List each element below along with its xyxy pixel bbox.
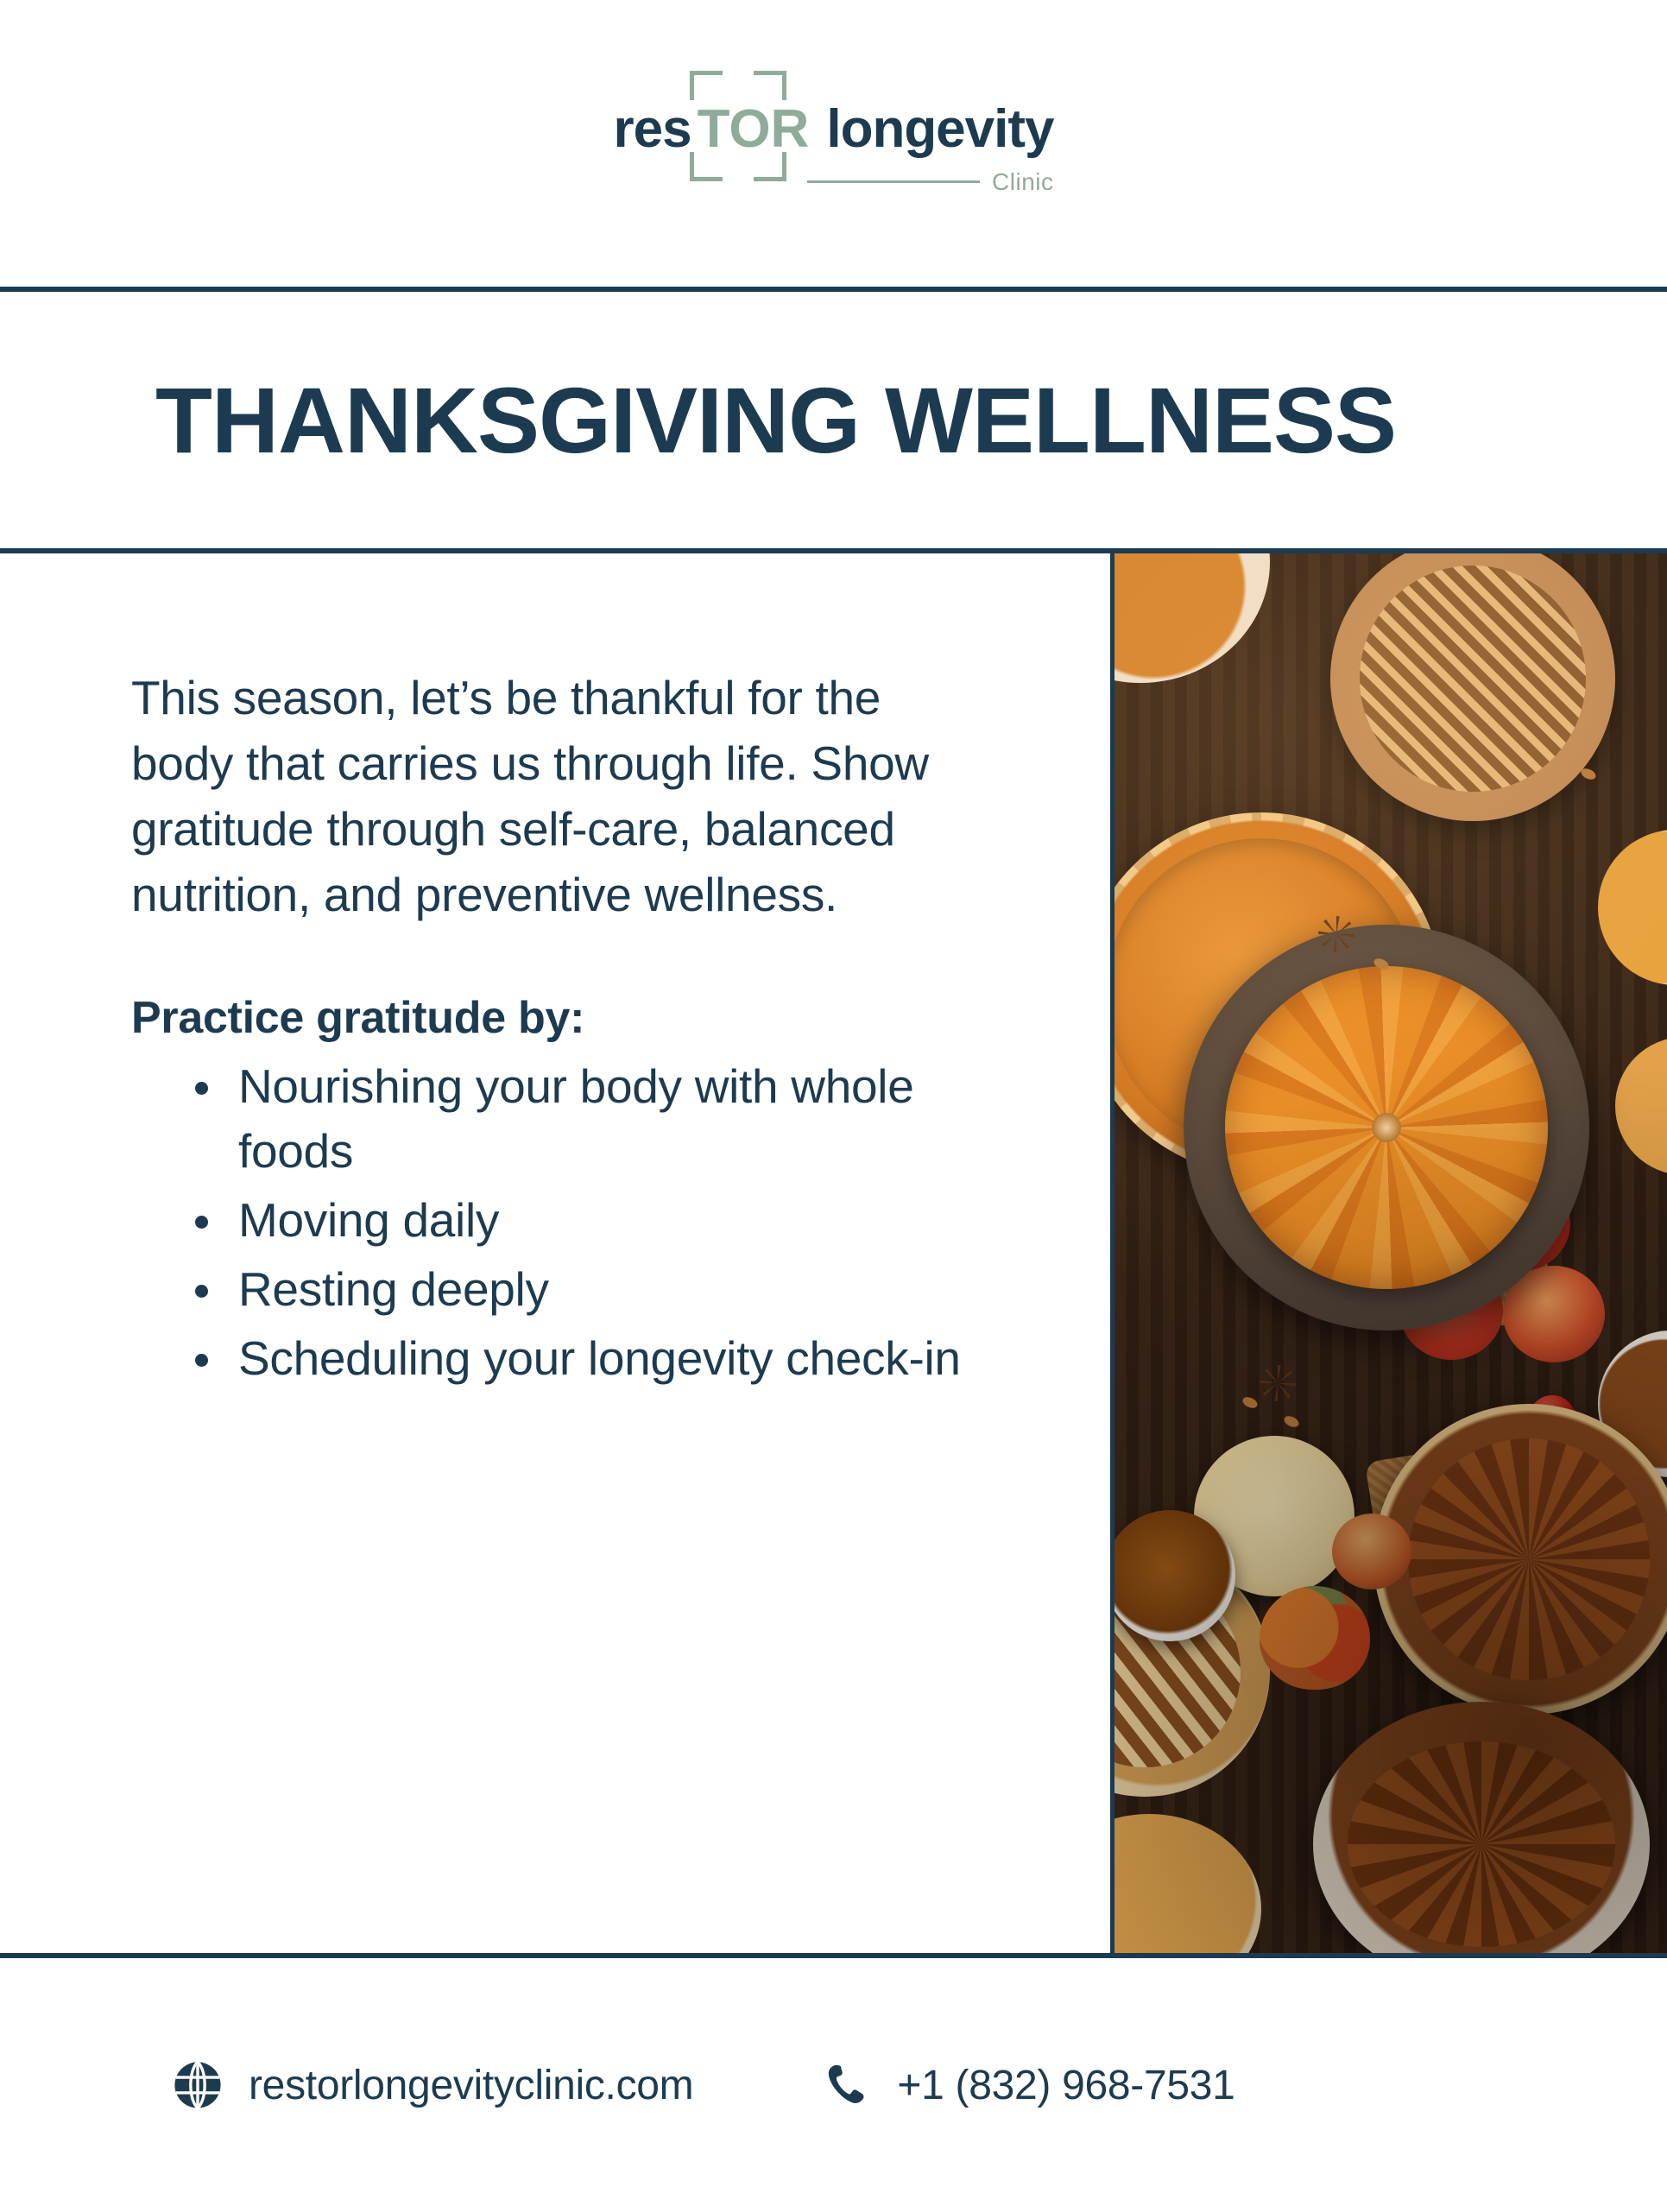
logo-tor-text: TOR bbox=[698, 99, 810, 159]
phone-text: +1 (832) 968-7531 bbox=[897, 2062, 1234, 2109]
photo-pumpkin-loaf bbox=[1225, 966, 1548, 1289]
page-title: THANKSGIVING WELLNESS bbox=[155, 374, 1396, 467]
logo-wordmark: res TOR longevity bbox=[613, 103, 1053, 156]
website-contact[interactable]: restorlongevityclinic.com bbox=[173, 2060, 693, 2110]
photo-bowl-right-edge bbox=[1615, 1037, 1667, 1175]
photo-seed bbox=[1283, 1414, 1301, 1430]
list-heading: Practice gratitude by: bbox=[131, 992, 995, 1044]
photo-star-anise bbox=[1260, 1365, 1296, 1401]
photo-apple bbox=[1332, 1514, 1411, 1589]
brand-logo[interactable]: res TOR longevity Clinic bbox=[613, 103, 1053, 156]
photo-canvas bbox=[1114, 553, 1667, 1953]
photo-pie-bottom-left bbox=[1114, 1814, 1261, 1953]
logo-res-text: res bbox=[613, 103, 691, 156]
photo-seed bbox=[1580, 767, 1598, 782]
thanksgiving-dessert-photo bbox=[1110, 553, 1667, 1953]
logo-clinic-row: Clinic bbox=[807, 170, 1053, 194]
photo-seed bbox=[1241, 1395, 1260, 1411]
photo-star-anise bbox=[1318, 916, 1354, 952]
logo-tor-block: TOR bbox=[692, 103, 815, 156]
list-item: Nourishing your body with whole foods bbox=[190, 1054, 995, 1185]
photo-lattice-pie bbox=[1330, 553, 1615, 821]
list-item: Scheduling your longevity check-in bbox=[190, 1326, 995, 1392]
phone-icon bbox=[823, 2061, 871, 2109]
footer-contacts: restorlongevityclinic.com +1 (832) 968-7… bbox=[173, 2060, 1235, 2110]
photo-pie-right-edge bbox=[1598, 830, 1667, 985]
list-item: Resting deeply bbox=[190, 1257, 995, 1323]
header: res TOR longevity Clinic bbox=[0, 0, 1667, 289]
website-text: restorlongevityclinic.com bbox=[249, 2062, 693, 2109]
photo-pecan-pie bbox=[1373, 1404, 1667, 1715]
copy-column: This season, let’s be thankful for the b… bbox=[131, 666, 995, 1395]
footer: restorlongevityclinic.com +1 (832) 968-7… bbox=[0, 1958, 1667, 2212]
photo-pecan-pie bbox=[1313, 1702, 1650, 1953]
globe-icon bbox=[173, 2060, 223, 2110]
logo-clinic-text: Clinic bbox=[992, 170, 1053, 194]
intro-paragraph: This season, let’s be thankful for the b… bbox=[131, 666, 995, 928]
main-content: This season, let’s be thankful for the b… bbox=[0, 553, 1667, 1953]
photo-plate-top-left bbox=[1114, 553, 1270, 683]
list-item: Moving daily bbox=[190, 1188, 995, 1254]
photo-gourd bbox=[1260, 1586, 1370, 1690]
title-band: THANKSGIVING WELLNESS bbox=[0, 292, 1667, 548]
flyer-page: res TOR longevity Clinic THAN bbox=[0, 0, 1667, 2212]
logo-longevity-text: longevity bbox=[826, 103, 1053, 156]
phone-contact[interactable]: +1 (832) 968-7531 bbox=[823, 2061, 1234, 2109]
gratitude-bullet-list: Nourishing your body with whole foods Mo… bbox=[131, 1054, 995, 1392]
logo-divider-line bbox=[807, 180, 980, 183]
